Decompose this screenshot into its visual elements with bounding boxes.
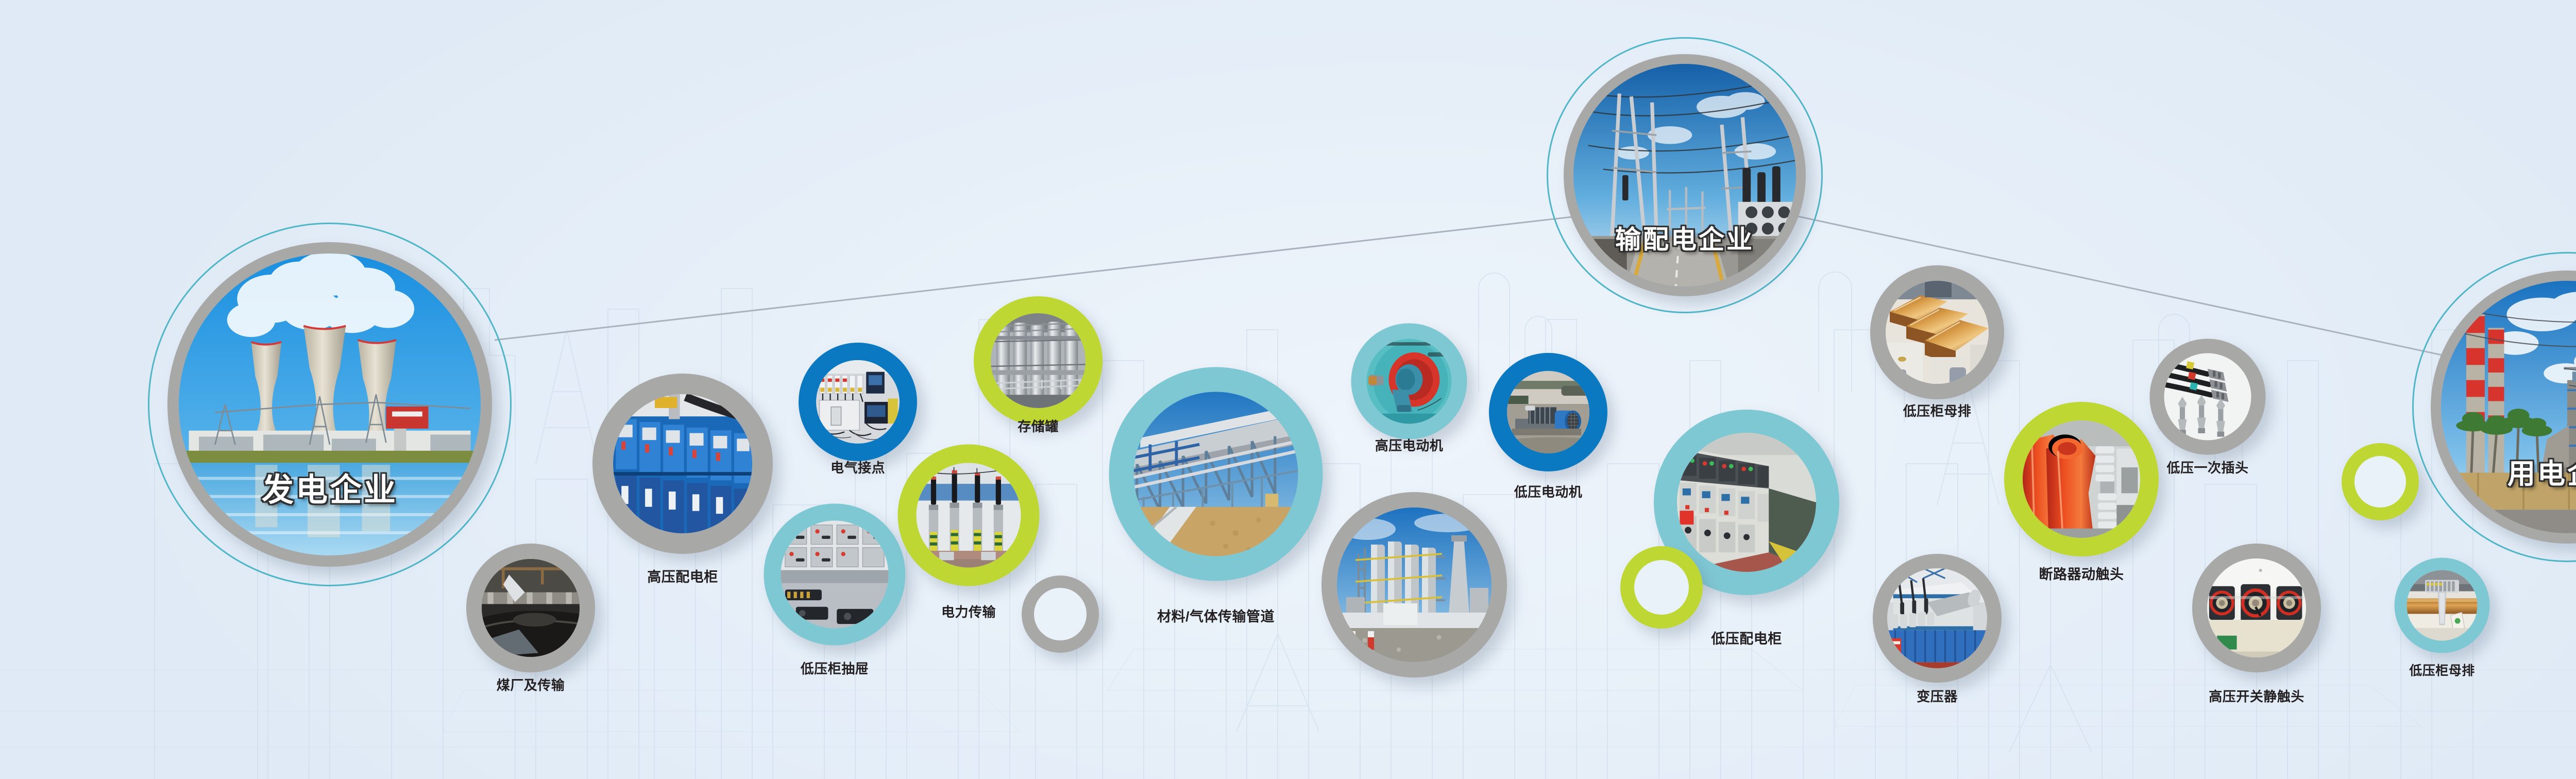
photo-hv-static-contact [2207, 558, 2306, 657]
node-ring [799, 343, 917, 461]
node-ring [974, 296, 1103, 425]
infographic-canvas: 发电企业 [0, 0, 2576, 779]
node-ring [2395, 558, 2490, 653]
label-hv-switch-static-contact: 高压开关静触头 [2209, 686, 2304, 705]
label-lv-cabinet-busbar-bottom: 低压柜母排 [2409, 661, 2475, 679]
label-electrical-contact: 电气接点 [831, 458, 885, 477]
node-lv-cabinet-busbar-bottom[interactable] [2395, 558, 2490, 653]
label-lv-motor: 低压电动机 [1514, 482, 1583, 501]
label-hv-distribution-cabinet: 高压配电柜 [647, 566, 718, 586]
ring-hole [1634, 560, 1689, 615]
photo-busbar-copper [1886, 281, 1989, 384]
node-storage-tank[interactable] [974, 296, 1103, 425]
hero-label-transmission-distribution: 输配电企业 [1615, 219, 1754, 256]
hero-label-power-generation: 发电企业 [262, 464, 398, 510]
node-lv-motor[interactable] [1489, 353, 1607, 471]
photo-electrical-contact [816, 360, 900, 444]
node-ring [1109, 367, 1323, 581]
node-ring [898, 445, 1040, 586]
label-transformer: 变压器 [1917, 686, 1958, 705]
node-ring [2342, 443, 2419, 520]
ring-hole [2354, 456, 2406, 507]
ring-hole [1034, 588, 1087, 640]
photo-coal-conveyor [482, 559, 580, 657]
node-ring [2004, 402, 2159, 556]
node-power-transmission[interactable] [898, 445, 1040, 586]
node-coal-plant-transport[interactable] [466, 544, 595, 672]
label-breaker-moving-contact: 断路器动触头 [2039, 563, 2124, 583]
node-ring: 发电企业 [167, 242, 492, 567]
photo-transformer [1887, 568, 1987, 668]
hero-node-power-generation[interactable]: 发电企业 [167, 242, 492, 567]
node-ring: 输配电企业 [1564, 54, 1806, 296]
node-ring [466, 544, 595, 672]
photo-storage-tank [991, 313, 1086, 408]
node-lv-cabinet-drawer[interactable] [764, 504, 906, 646]
node-ring: 用电企业 [2431, 270, 2576, 544]
photo-chemical-plant [1337, 507, 1492, 662]
photo-hv-motor [1367, 339, 1452, 424]
node-ring [1620, 546, 1703, 629]
node-chemical-plant[interactable] [1321, 492, 1507, 678]
label-storage-tank: 存储罐 [1018, 416, 1059, 435]
hero-node-transmission-distribution[interactable]: 输配电企业 [1564, 54, 1806, 296]
node-ring [2192, 544, 2321, 672]
label-power-transmission: 电力传输 [941, 602, 996, 621]
label-lv-distribution-cabinet: 低压配电柜 [1711, 628, 1782, 648]
label-lv-primary-plug: 低压一次插头 [2166, 458, 2248, 477]
photo-hv-cabinet [613, 394, 752, 533]
node-lv-cabinet-busbar-top[interactable] [1870, 265, 2004, 399]
node-hv-distribution-cabinet[interactable] [592, 374, 773, 554]
decor-ring-lime-2 [2342, 443, 2419, 520]
node-material-gas-pipeline[interactable] [1109, 367, 1323, 581]
node-ring [592, 374, 773, 554]
label-lv-cabinet-busbar-top: 低压柜母排 [1903, 401, 1972, 420]
node-ring [1489, 353, 1607, 471]
photo-busbar-terminal [2407, 570, 2478, 641]
label-lv-cabinet-drawer: 低压柜抽屉 [801, 658, 869, 678]
label-coal-plant-transport: 煤厂及传输 [497, 675, 565, 694]
photo-pipeline-rack [1134, 392, 1298, 556]
photo-power-transmission [917, 463, 1021, 568]
node-ring [1022, 575, 1099, 653]
photo-breaker-contact [2023, 420, 2140, 538]
node-hv-motor[interactable] [1351, 324, 1467, 439]
photo-lv-motor [1507, 371, 1589, 453]
node-ring [1873, 554, 2002, 683]
label-material-gas-pipeline: 材料/气体传输管道 [1157, 605, 1275, 625]
node-ring [1351, 324, 1467, 439]
node-ring [1321, 492, 1507, 678]
node-hv-switch-static-contact[interactable] [2192, 544, 2321, 672]
photo-lv-primary-plug [2164, 353, 2251, 441]
hero-node-power-consumer[interactable]: 用电企业 [2431, 270, 2576, 544]
node-transformer[interactable] [1873, 554, 2002, 683]
photo-lv-drawer [781, 521, 889, 629]
label-hv-motor: 高压电动机 [1375, 435, 1444, 454]
node-lv-primary-plug[interactable] [2150, 339, 2266, 455]
photo-consumer-plant [2441, 281, 2576, 533]
node-ring [2150, 339, 2266, 455]
node-ring [764, 504, 906, 646]
node-electrical-contact[interactable] [799, 343, 917, 461]
node-ring [1870, 265, 2004, 399]
node-breaker-moving-contact[interactable] [2004, 402, 2159, 556]
decor-ring-lime-1 [1620, 546, 1703, 629]
decor-ring-gray-1 [1022, 575, 1099, 653]
photo-power-plant [179, 253, 481, 555]
hero-label-power-consumer: 用电企业 [2507, 451, 2576, 492]
